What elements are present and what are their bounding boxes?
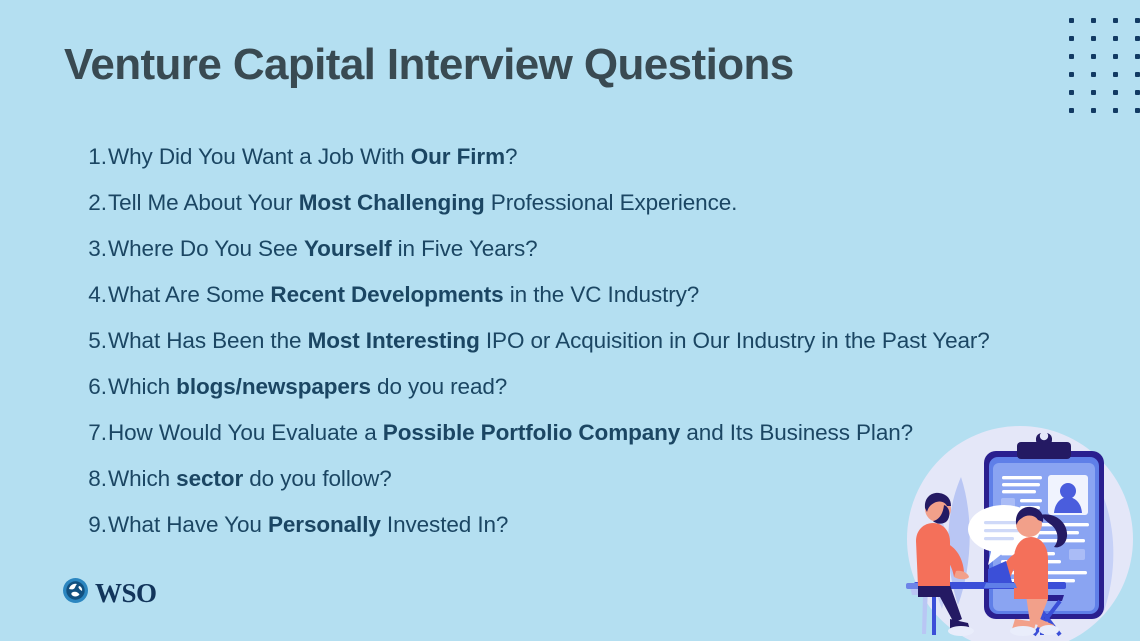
question-text-emphasis: Personally [268,512,381,537]
question-item: 5.What Has Been the Most Interesting IPO… [64,318,1084,364]
dot [1091,90,1096,95]
dot [1091,72,1096,77]
question-text-segment: What Has Been the [108,328,308,353]
question-number: 7. [64,410,108,456]
question-text: Where Do You See Yourself in Five Years? [108,226,538,272]
question-list: 1.Why Did You Want a Job With Our Firm?2… [64,134,1084,548]
question-text-segment: and Its Business Plan? [680,420,913,445]
dot [1113,108,1118,113]
dot [1091,18,1096,23]
question-text-segment: Professional Experience. [485,190,738,215]
question-text-emphasis: Our Firm [411,144,505,169]
dot [1069,54,1074,59]
dot [1069,36,1074,41]
question-text: How Would You Evaluate a Possible Portfo… [108,410,913,456]
question-text-emphasis: Recent Developments [270,282,503,307]
dot [1135,72,1140,77]
question-number: 2. [64,180,108,226]
dot [1135,90,1140,95]
wso-logo-text: WSO [95,580,157,607]
question-text: Tell Me About Your Most Challenging Prof… [108,180,737,226]
question-text: Why Did You Want a Job With Our Firm? [108,134,517,180]
dot [1069,108,1074,113]
question-text-emphasis: Yourself [304,236,392,261]
question-text: What Have You Personally Invested In? [108,502,508,548]
question-text-segment: in Five Years? [392,236,538,261]
question-text-segment: Why Did You Want a Job With [108,144,411,169]
question-text-segment: How Would You Evaluate a [108,420,383,445]
dot [1135,108,1140,113]
question-text-segment: Which [108,374,176,399]
wso-globe-icon [63,578,88,608]
dot [1113,90,1118,95]
question-text-segment: Tell Me About Your [108,190,299,215]
question-text-segment: What Have You [108,512,268,537]
dot [1113,36,1118,41]
dot [1113,54,1118,59]
dot [1135,54,1140,59]
question-number: 4. [64,272,108,318]
question-number: 1. [64,134,108,180]
question-text: What Has Been the Most Interesting IPO o… [108,318,990,364]
dot [1135,18,1140,23]
question-text: What Are Some Recent Developments in the… [108,272,699,318]
page-title: Venture Capital Interview Questions [64,36,794,94]
dot [1091,108,1096,113]
question-item: 3.Where Do You See Yourself in Five Year… [64,226,1084,272]
question-text-segment: Invested In? [381,512,509,537]
dot-grid-decoration [1069,18,1140,114]
dot [1091,54,1096,59]
question-text-segment: Where Do You See [108,236,304,261]
question-item: 4.What Are Some Recent Developments in t… [64,272,1084,318]
question-item: 1.Why Did You Want a Job With Our Firm? [64,134,1084,180]
question-text: Which blogs/newspapers do you read? [108,364,507,410]
question-text-segment: IPO or Acquisition in Our Industry in th… [480,328,990,353]
question-number: 3. [64,226,108,272]
dot [1091,36,1096,41]
question-text-emphasis: Possible Portfolio Company [383,420,680,445]
dot [1069,90,1074,95]
question-text-emphasis: Most Challenging [299,190,485,215]
question-number: 8. [64,456,108,502]
wso-logo[interactable]: WSO [63,578,157,608]
question-item: 8.Which sector do you follow? [64,456,1084,502]
question-text-emphasis: blogs/newspapers [176,374,371,399]
question-item: 9.What Have You Personally Invested In? [64,502,1084,548]
question-text-segment: do you read? [371,374,507,399]
dot [1113,72,1118,77]
question-number: 9. [64,502,108,548]
question-text-emphasis: sector [176,466,243,491]
question-text: Which sector do you follow? [108,456,392,502]
question-text-segment: do you follow? [243,466,392,491]
question-text-segment: ? [505,144,517,169]
question-text-segment: What Are Some [108,282,270,307]
dot [1135,36,1140,41]
question-text-segment: in the VC Industry? [504,282,700,307]
question-number: 6. [64,364,108,410]
question-text-emphasis: Most Interesting [308,328,480,353]
question-text-segment: Which [108,466,176,491]
question-number: 5. [64,318,108,364]
dot [1069,18,1074,23]
slide-canvas: Venture Capital Interview Questions 1.Wh… [0,0,1140,641]
question-item: 2.Tell Me About Your Most Challenging Pr… [64,180,1084,226]
question-item: 7.How Would You Evaluate a Possible Port… [64,410,1084,456]
question-item: 6.Which blogs/newspapers do you read? [64,364,1084,410]
dot [1113,18,1118,23]
dot [1069,72,1074,77]
